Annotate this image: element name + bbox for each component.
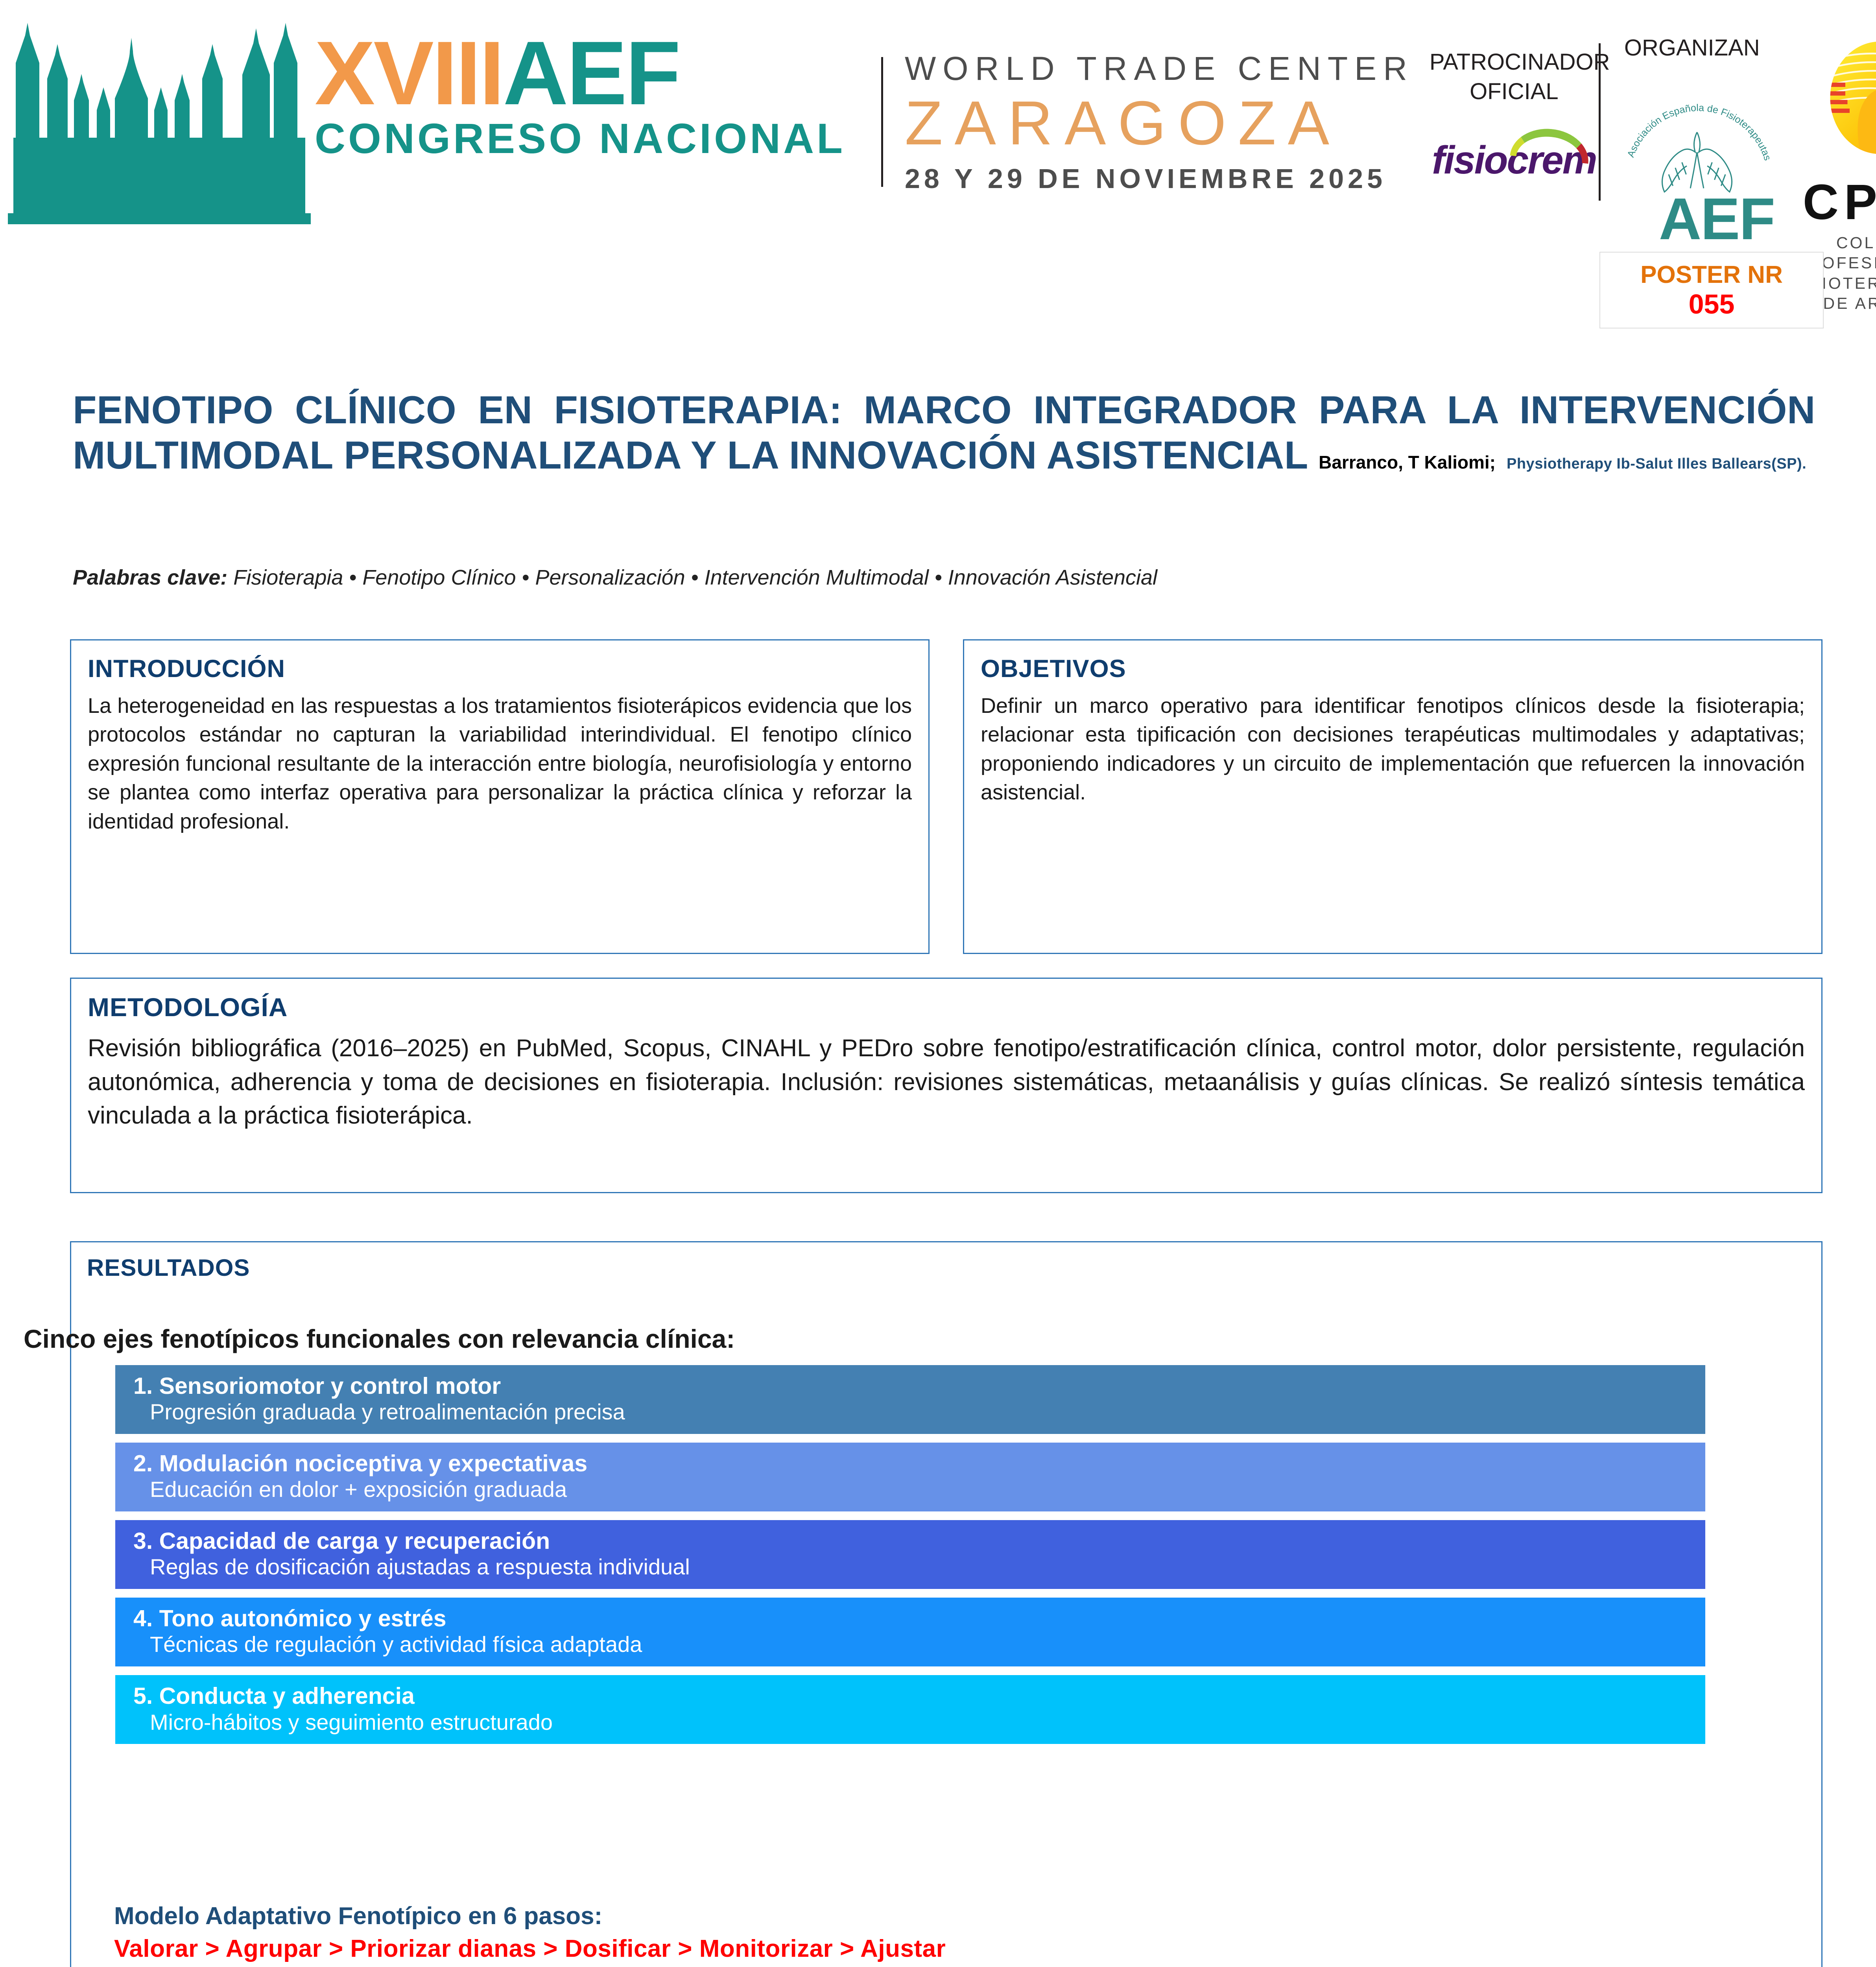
organizers-label: ORGANIZAN [1624,35,1760,61]
title-block: FENOTIPO CLÍNICO EN FISIOTERAPIA: MARCO … [73,387,1815,478]
section-metodologia: METODOLOGÍA Revisión bibliográfica (2016… [70,978,1823,1193]
metodologia-body: Revisión bibliográfica (2016–2025) en Pu… [88,1031,1805,1133]
resultados-heading: RESULTADOS [87,1254,1806,1281]
author-list: Barranco, T Kaliomi; [1319,452,1496,472]
objetivos-body: Definir un marco operativo para identifi… [981,692,1805,807]
congress-subtitle: CONGRESO NACIONAL [315,117,838,160]
phenotype-axis-bar: 3. Capacidad de carga y recuperaciónRegl… [115,1520,1705,1589]
phenotype-axis-title: 4. Tono autonómico y estrés [133,1605,1705,1632]
phenotype-axis-bar: 4. Tono autonómico y estrésTécnicas de r… [115,1598,1705,1666]
venue-dates: 28 Y 29 DE NOVIEMBRE 2025 [905,163,1414,194]
metodologia-heading: METODOLOGÍA [88,992,1805,1022]
congress-header-banner: XVIIIAEF CONGRESO NACIONAL WORLD TRADE C… [0,0,1876,244]
basilica-silhouette-icon [8,20,311,224]
congress-logo: XVIIIAEF CONGRESO NACIONAL [0,4,877,240]
sponsor-block: PATROCINADOR OFICIAL fisiocrem [1430,47,1599,197]
keywords-label: Palabras clave: [73,566,227,589]
introduccion-heading: INTRODUCCIÓN [88,655,912,683]
phenotype-axis-subtitle: Reglas de dosificación ajustadas a respu… [133,1554,1705,1580]
poster-number-value: 055 [1689,289,1735,319]
keywords-line: Palabras clave: Fisioterapia • Fenotipo … [73,565,1815,590]
poster-number-label: POSTER NR [1640,261,1783,289]
affiliation: Physiotherapy Ib-Salut Illes Ballears(SP… [1507,456,1806,472]
model-heading: Modelo Adaptativo Fenotípico en 6 pasos: [114,1902,1711,1930]
poster-page: XVIIIAEF CONGRESO NACIONAL WORLD TRADE C… [0,0,1876,1967]
phenotype-axis-bar: 1. Sensoriomotor y control motorProgresi… [115,1365,1705,1434]
phenotype-axis-subtitle: Educación en dolor + exposición graduada [133,1477,1705,1502]
organizers-block: ORGANIZAN Asociación Española de Fisiote… [1601,4,1876,240]
phenotype-axis-title: 5. Conducta y adherencia [133,1683,1705,1709]
phenotype-axis-title: 1. Sensoriomotor y control motor [133,1373,1705,1399]
poster-number-badge: POSTER NR 055 [1599,252,1824,328]
congress-number: XVIII [315,22,503,124]
introduccion-body: La heterogeneidad en las respuestas a lo… [88,692,912,836]
venue-name: WORLD TRADE CENTER [905,50,1414,88]
venue-city: ZARAGOZA [905,88,1414,159]
phenotype-axis-title: 2. Modulación nociceptiva y expectativas [133,1450,1705,1477]
aef-logo: Asociación Española de Fisioterapeutas A… [1624,67,1774,232]
congress-org-abbrev: AEF [503,22,679,124]
objetivos-heading: OBJETIVOS [981,655,1805,683]
phenotype-axis-subtitle: Técnicas de regulación y actividad físic… [133,1632,1705,1657]
cpfa-wordmark: CPFA [1789,173,1876,231]
model-steps: Valorar > Agrupar > Priorizar dianas > D… [114,1935,1711,1963]
phenotype-axis-bar: 5. Conducta y adherenciaMicro-hábitos y … [115,1675,1705,1744]
fisiocrem-logo: fisiocrem [1430,138,1599,197]
sponsor-label-line1: PATROCINADOR [1430,47,1599,77]
phenotype-axis-subtitle: Progresión graduada y retroalimentación … [133,1399,1705,1425]
venue-block: WORLD TRADE CENTER ZARAGOZA 28 Y 29 DE N… [883,50,1430,195]
sponsor-label-line2: OFICIAL [1430,77,1599,106]
aef-wordmark: AEF [1659,185,1775,253]
phenotype-axis-bar: 2. Modulación nociceptiva y expectativas… [115,1443,1705,1511]
adaptive-model-block: Modelo Adaptativo Fenotípico en 6 pasos:… [114,1902,1711,1967]
phenotype-axes-list: 1. Sensoriomotor y control motorProgresi… [115,1365,1705,1753]
keywords-text: Fisioterapia • Fenotipo Clínico • Person… [227,566,1157,589]
section-introduccion: INTRODUCCIÓN La heterogeneidad en las re… [70,639,930,954]
resultados-lead: Cinco ejes fenotípicos funcionales con r… [24,1324,1204,1354]
section-objetivos: OBJETIVOS Definir un marco operativo par… [963,639,1823,954]
cpfa-hand-icon [1815,39,1876,169]
phenotype-axis-title: 3. Capacidad de carga y recuperación [133,1528,1705,1554]
page-title: FENOTIPO CLÍNICO EN FISIOTERAPIA: MARCO … [73,387,1815,478]
phenotype-axis-subtitle: Micro-hábitos y seguimiento estructurado [133,1710,1705,1735]
